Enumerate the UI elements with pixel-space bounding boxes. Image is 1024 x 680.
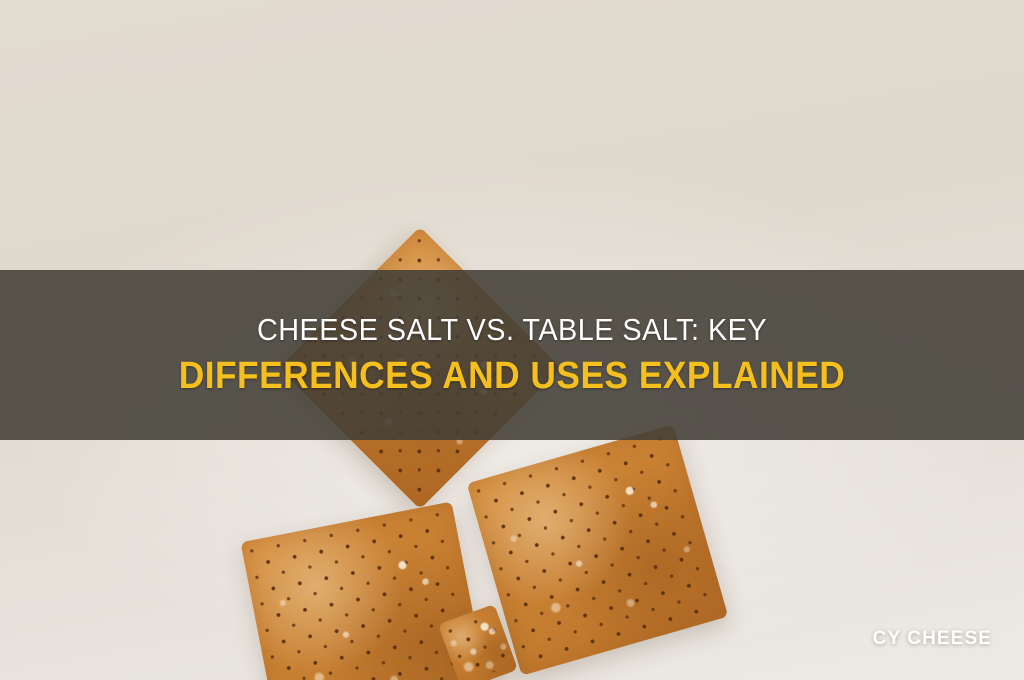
title-band: CHEESE SALT VS. TABLE SALT: KEY DIFFEREN…	[0, 270, 1024, 440]
title-line-secondary: DIFFERENCES AND USES EXPLAINED	[36, 355, 988, 398]
site-watermark: CY CHEESE	[873, 628, 992, 650]
article-hero-banner: CHEESE SALT VS. TABLE SALT: KEY DIFFEREN…	[0, 0, 1024, 680]
title-line-primary: CHEESE SALT VS. TABLE SALT: KEY	[36, 312, 988, 347]
